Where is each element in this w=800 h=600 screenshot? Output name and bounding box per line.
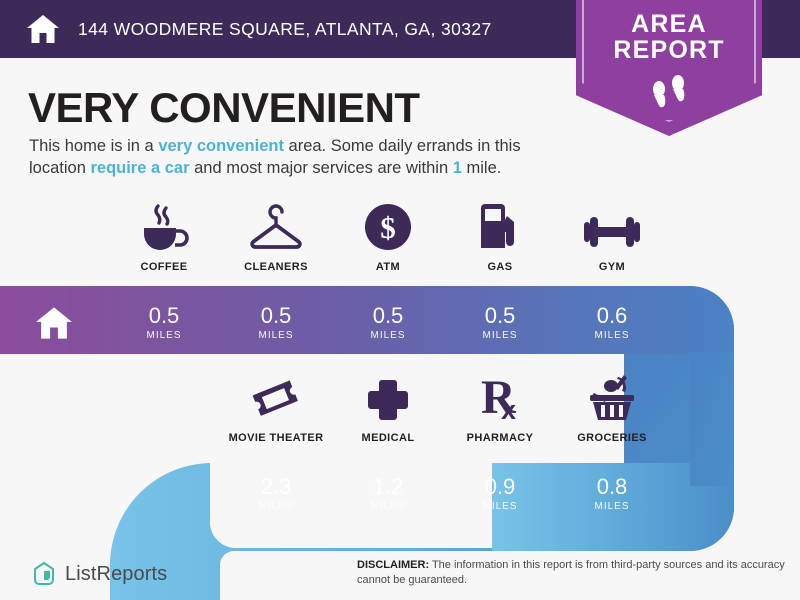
distance-unit: MILES [258, 501, 293, 512]
subcopy-highlight-3: 1 [453, 159, 462, 177]
secondary-icon-row: MOVIE THEATER MEDICAL R x PHARMACY [220, 371, 668, 444]
distance-value: 0.5 [149, 305, 180, 327]
distance-unit: MILES [370, 330, 405, 341]
movie-ticket-icon [251, 371, 301, 423]
header-address: 144 WOODMERE SQUARE, ATLANTA, GA, 30327 [78, 19, 492, 40]
page-subcopy: This home is in a very convenient area. … [29, 136, 574, 180]
listreports-logo: ListReports [32, 561, 167, 587]
distance-value: 0.8 [597, 476, 628, 498]
category-gas: GAS [444, 200, 556, 273]
header-bar: 144 WOODMERE SQUARE, ATLANTA, GA, 30327 [0, 0, 560, 58]
distance-cell: 0.6 MILES [556, 292, 668, 354]
category-coffee: COFFEE [108, 200, 220, 273]
distance-unit: MILES [258, 330, 293, 341]
subcopy-highlight-1: very convenient [158, 137, 284, 155]
coffee-cup-icon [136, 200, 192, 252]
area-report-page: 144 WOODMERE SQUARE, ATLANTA, GA, 30327 … [0, 0, 800, 600]
category-label: MEDICAL [362, 432, 415, 444]
category-groceries: GROCERIES [556, 371, 668, 444]
dollar-circle-icon: $ [363, 200, 413, 252]
listreports-tag-icon [32, 561, 56, 587]
category-movie-theater: MOVIE THEATER [220, 371, 332, 444]
secondary-distance-row: 2.3 MILES 1.2 MILES 0.9 MILES 0.8 MILES [220, 463, 668, 525]
category-label: GROCERIES [577, 432, 647, 444]
distance-cell: 0.8 MILES [556, 463, 668, 525]
distance-value: 0.6 [597, 305, 628, 327]
badge-title: AREA REPORT [613, 12, 724, 64]
category-gym: GYM [556, 200, 668, 273]
area-report-badge: AREA REPORT [576, 0, 762, 136]
primary-distance-row: 0.5 MILES 0.5 MILES 0.5 MILES 0.5 MILES … [108, 292, 668, 354]
disclaimer-label: DISCLAIMER: [357, 559, 429, 571]
svg-text:x: x [501, 395, 516, 423]
distance-cell: 0.5 MILES [332, 292, 444, 354]
footprints-icon [647, 72, 691, 112]
distance-cell: 0.9 MILES [444, 463, 556, 525]
category-cleaners: CLEANERS [220, 200, 332, 273]
distance-value: 0.5 [485, 305, 516, 327]
distance-unit: MILES [146, 330, 181, 341]
category-atm: $ ATM [332, 200, 444, 273]
category-label: COFFEE [140, 261, 187, 273]
home-icon [26, 14, 60, 44]
distance-cell: 2.3 MILES [220, 463, 332, 525]
distance-value: 0.5 [261, 305, 292, 327]
category-medical: MEDICAL [332, 371, 444, 444]
distance-unit: MILES [370, 501, 405, 512]
distance-value: 2.3 [261, 476, 292, 498]
svg-text:$: $ [380, 210, 396, 245]
badge-line-2: REPORT [613, 38, 724, 64]
clothes-hanger-icon [246, 200, 306, 252]
subcopy-part-1: This home is in a [29, 137, 158, 155]
distance-cell: 0.5 MILES [444, 292, 556, 354]
badge-line-1: AREA [613, 12, 724, 38]
distance-value: 0.9 [485, 476, 516, 498]
rx-icon: R x [477, 371, 523, 423]
grocery-basket-icon [586, 371, 638, 423]
ribbon-home-badge [0, 292, 108, 354]
distance-value: 1.2 [373, 476, 404, 498]
home-icon [35, 306, 73, 340]
category-label: GAS [487, 261, 512, 273]
dumbbell-icon [582, 200, 642, 252]
distance-cell: 0.5 MILES [220, 292, 332, 354]
distance-cell: 0.5 MILES [108, 292, 220, 354]
subcopy-part-3: and most major services are within [190, 159, 453, 177]
distance-unit: MILES [482, 330, 517, 341]
distance-unit: MILES [594, 501, 629, 512]
category-label: MOVIE THEATER [229, 432, 324, 444]
category-label: GYM [599, 261, 625, 273]
distance-unit: MILES [482, 501, 517, 512]
page-title: VERY CONVENIENT [28, 84, 420, 132]
disclaimer: DISCLAIMER: The information in this repo… [357, 558, 787, 587]
category-label: CLEANERS [244, 261, 308, 273]
primary-icon-row: COFFEE CLEANERS $ ATM [108, 200, 668, 273]
category-pharmacy: R x PHARMACY [444, 371, 556, 444]
subcopy-highlight-2: require a car [90, 159, 189, 177]
subcopy-part-4: mile. [462, 159, 501, 177]
category-label: ATM [376, 261, 400, 273]
medical-cross-icon [365, 371, 411, 423]
gas-pump-icon [477, 200, 523, 252]
distance-unit: MILES [594, 330, 629, 341]
logo-text: ListReports [65, 563, 167, 586]
distance-cell: 1.2 MILES [332, 463, 444, 525]
distance-value: 0.5 [373, 305, 404, 327]
category-label: PHARMACY [467, 432, 534, 444]
